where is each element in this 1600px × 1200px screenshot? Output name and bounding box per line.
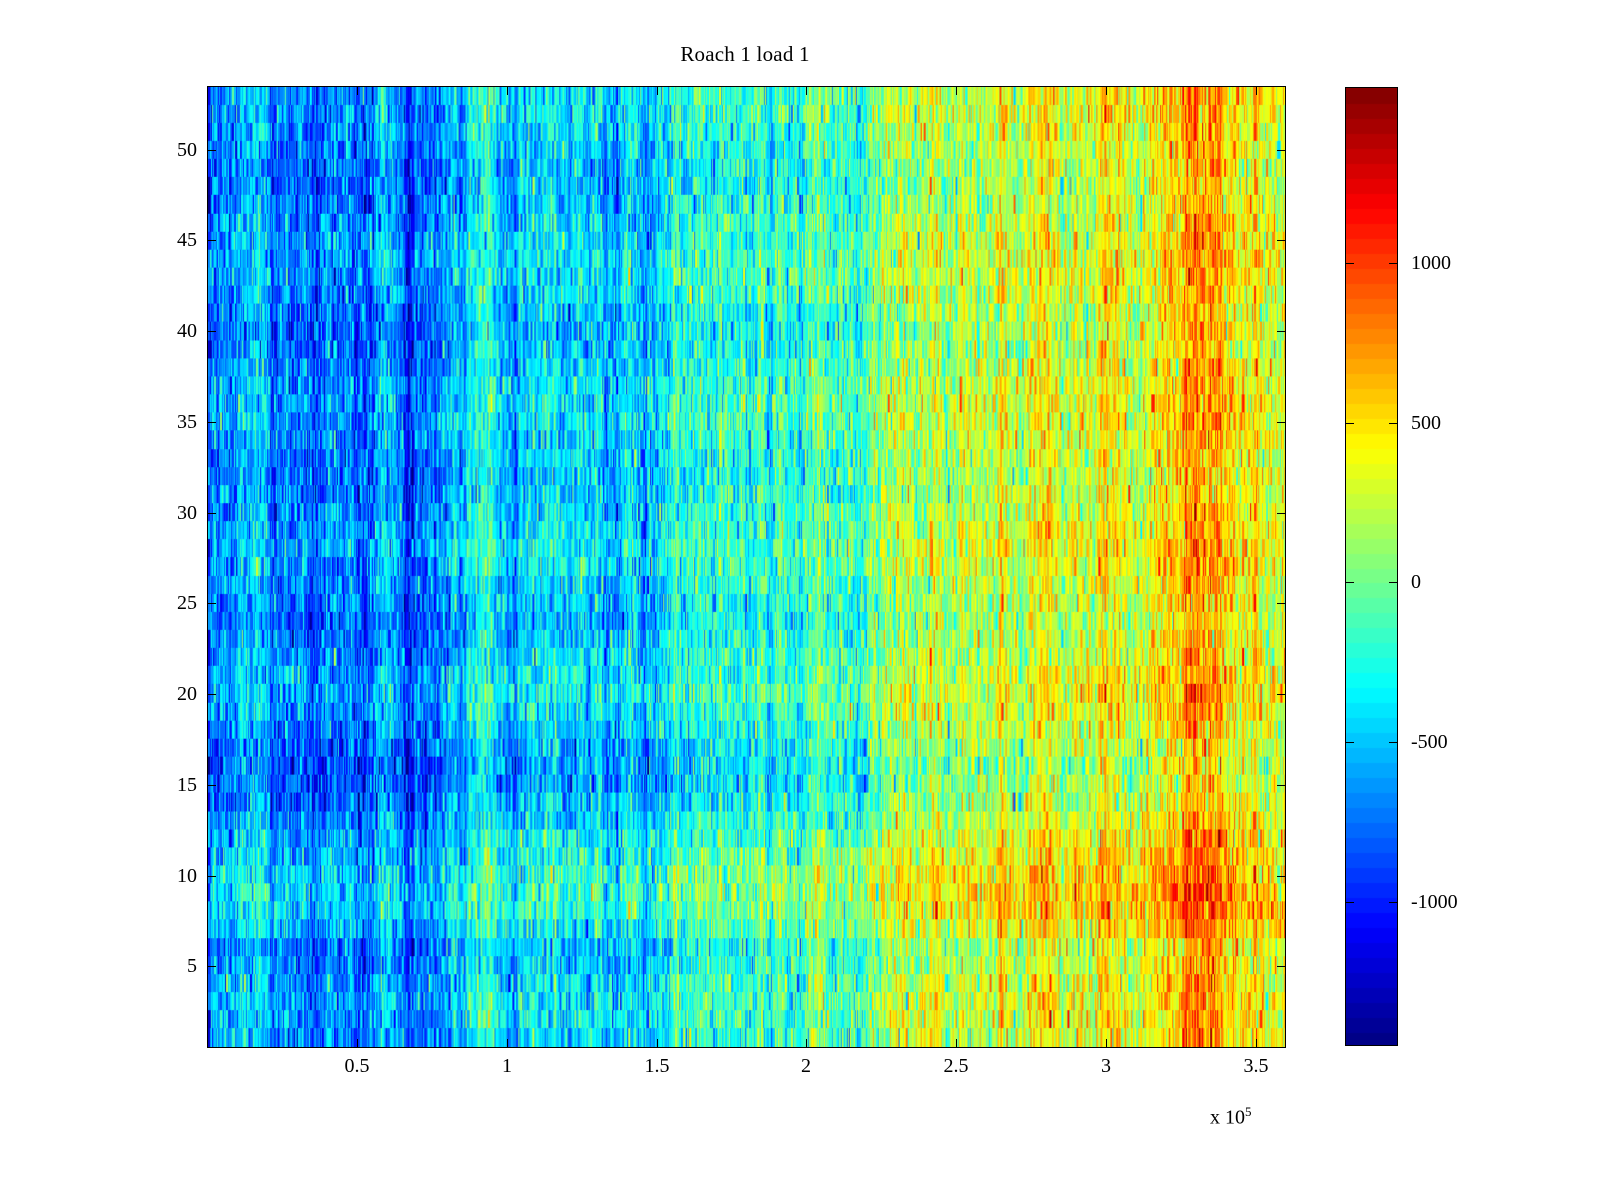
y-tick-label: 20	[177, 684, 197, 704]
x-tick-mark	[1256, 86, 1257, 95]
page-title: Roach 1 load 1	[0, 42, 1490, 66]
x-tick-label: 3	[1101, 1055, 1111, 1077]
colorbar-tick-label: -1000	[1411, 892, 1458, 912]
colorbar-tick-label: 0	[1411, 572, 1421, 592]
colorbar-tick-mark	[1345, 423, 1354, 424]
y-tick-mark	[1277, 150, 1286, 151]
heatmap-image	[208, 87, 1285, 1047]
y-tick-label: 40	[177, 321, 197, 341]
y-tick-mark	[207, 150, 216, 151]
x-tick-mark	[1106, 1039, 1107, 1048]
colorbar-tick-mark	[1345, 263, 1354, 264]
x-tick-mark	[657, 86, 658, 95]
y-tick-mark	[1277, 331, 1286, 332]
y-tick-mark	[207, 240, 216, 241]
colorbar-tick-label: 1000	[1411, 253, 1451, 273]
x-tick-label: 1	[502, 1055, 512, 1077]
colorbar-tick-mark	[1389, 902, 1398, 903]
x-tick-mark	[507, 86, 508, 95]
colorbar-tick-mark	[1389, 423, 1398, 424]
y-tick-mark	[1277, 422, 1286, 423]
y-tick-mark	[1277, 603, 1286, 604]
y-tick-label: 35	[177, 412, 197, 432]
y-tick-mark	[207, 785, 216, 786]
y-tick-label: 15	[177, 775, 197, 795]
colorbar-tick-mark	[1345, 582, 1354, 583]
colorbar-tick-label: -500	[1411, 732, 1448, 752]
y-tick-mark	[207, 422, 216, 423]
y-tick-mark	[1277, 240, 1286, 241]
y-tick-mark	[207, 694, 216, 695]
x-tick-label: 2	[801, 1055, 811, 1077]
x-tick-label: 1.5	[645, 1055, 670, 1077]
colorbar-tick-mark	[1389, 582, 1398, 583]
y-tick-mark	[1277, 966, 1286, 967]
y-tick-mark	[1277, 785, 1286, 786]
y-tick-mark	[1277, 694, 1286, 695]
x-tick-mark	[1106, 86, 1107, 95]
y-tick-mark	[207, 603, 216, 604]
x-tick-label: 2.5	[944, 1055, 969, 1077]
heatmap-axes[interactable]	[207, 86, 1286, 1048]
x-tick-mark	[357, 1039, 358, 1048]
x-tick-mark	[806, 86, 807, 95]
y-tick-label: 10	[177, 866, 197, 886]
x-tick-label: 3.5	[1244, 1055, 1269, 1077]
colorbar-tick-mark	[1345, 742, 1354, 743]
x-exponent-base: x 10	[1210, 1107, 1245, 1129]
colorbar-tick-label: 500	[1411, 413, 1441, 433]
y-tick-label: 45	[177, 230, 197, 250]
x-tick-mark	[357, 86, 358, 95]
y-tick-mark	[207, 966, 216, 967]
x-tick-mark	[956, 1039, 957, 1048]
x-axis-exponent-label: x 105	[1210, 1104, 1252, 1130]
y-tick-mark	[1277, 876, 1286, 877]
x-tick-mark	[1256, 1039, 1257, 1048]
y-tick-mark	[207, 876, 216, 877]
y-tick-mark	[207, 513, 216, 514]
y-tick-mark	[1277, 513, 1286, 514]
y-tick-label: 5	[187, 956, 197, 976]
x-tick-mark	[507, 1039, 508, 1048]
x-tick-label: 0.5	[345, 1055, 370, 1077]
x-tick-mark	[956, 86, 957, 95]
x-tick-mark	[806, 1039, 807, 1048]
colorbar-tick-mark	[1389, 263, 1398, 264]
y-tick-label: 50	[177, 140, 197, 160]
y-tick-mark	[207, 331, 216, 332]
figure-root: Roach 1 load 1 5101520253035404550 0.511…	[0, 0, 1600, 1200]
y-tick-label: 25	[177, 593, 197, 613]
x-tick-mark	[657, 1039, 658, 1048]
y-tick-label: 30	[177, 503, 197, 523]
x-exponent-power: 5	[1245, 1104, 1252, 1119]
colorbar-tick-mark	[1345, 902, 1354, 903]
colorbar-tick-mark	[1389, 742, 1398, 743]
